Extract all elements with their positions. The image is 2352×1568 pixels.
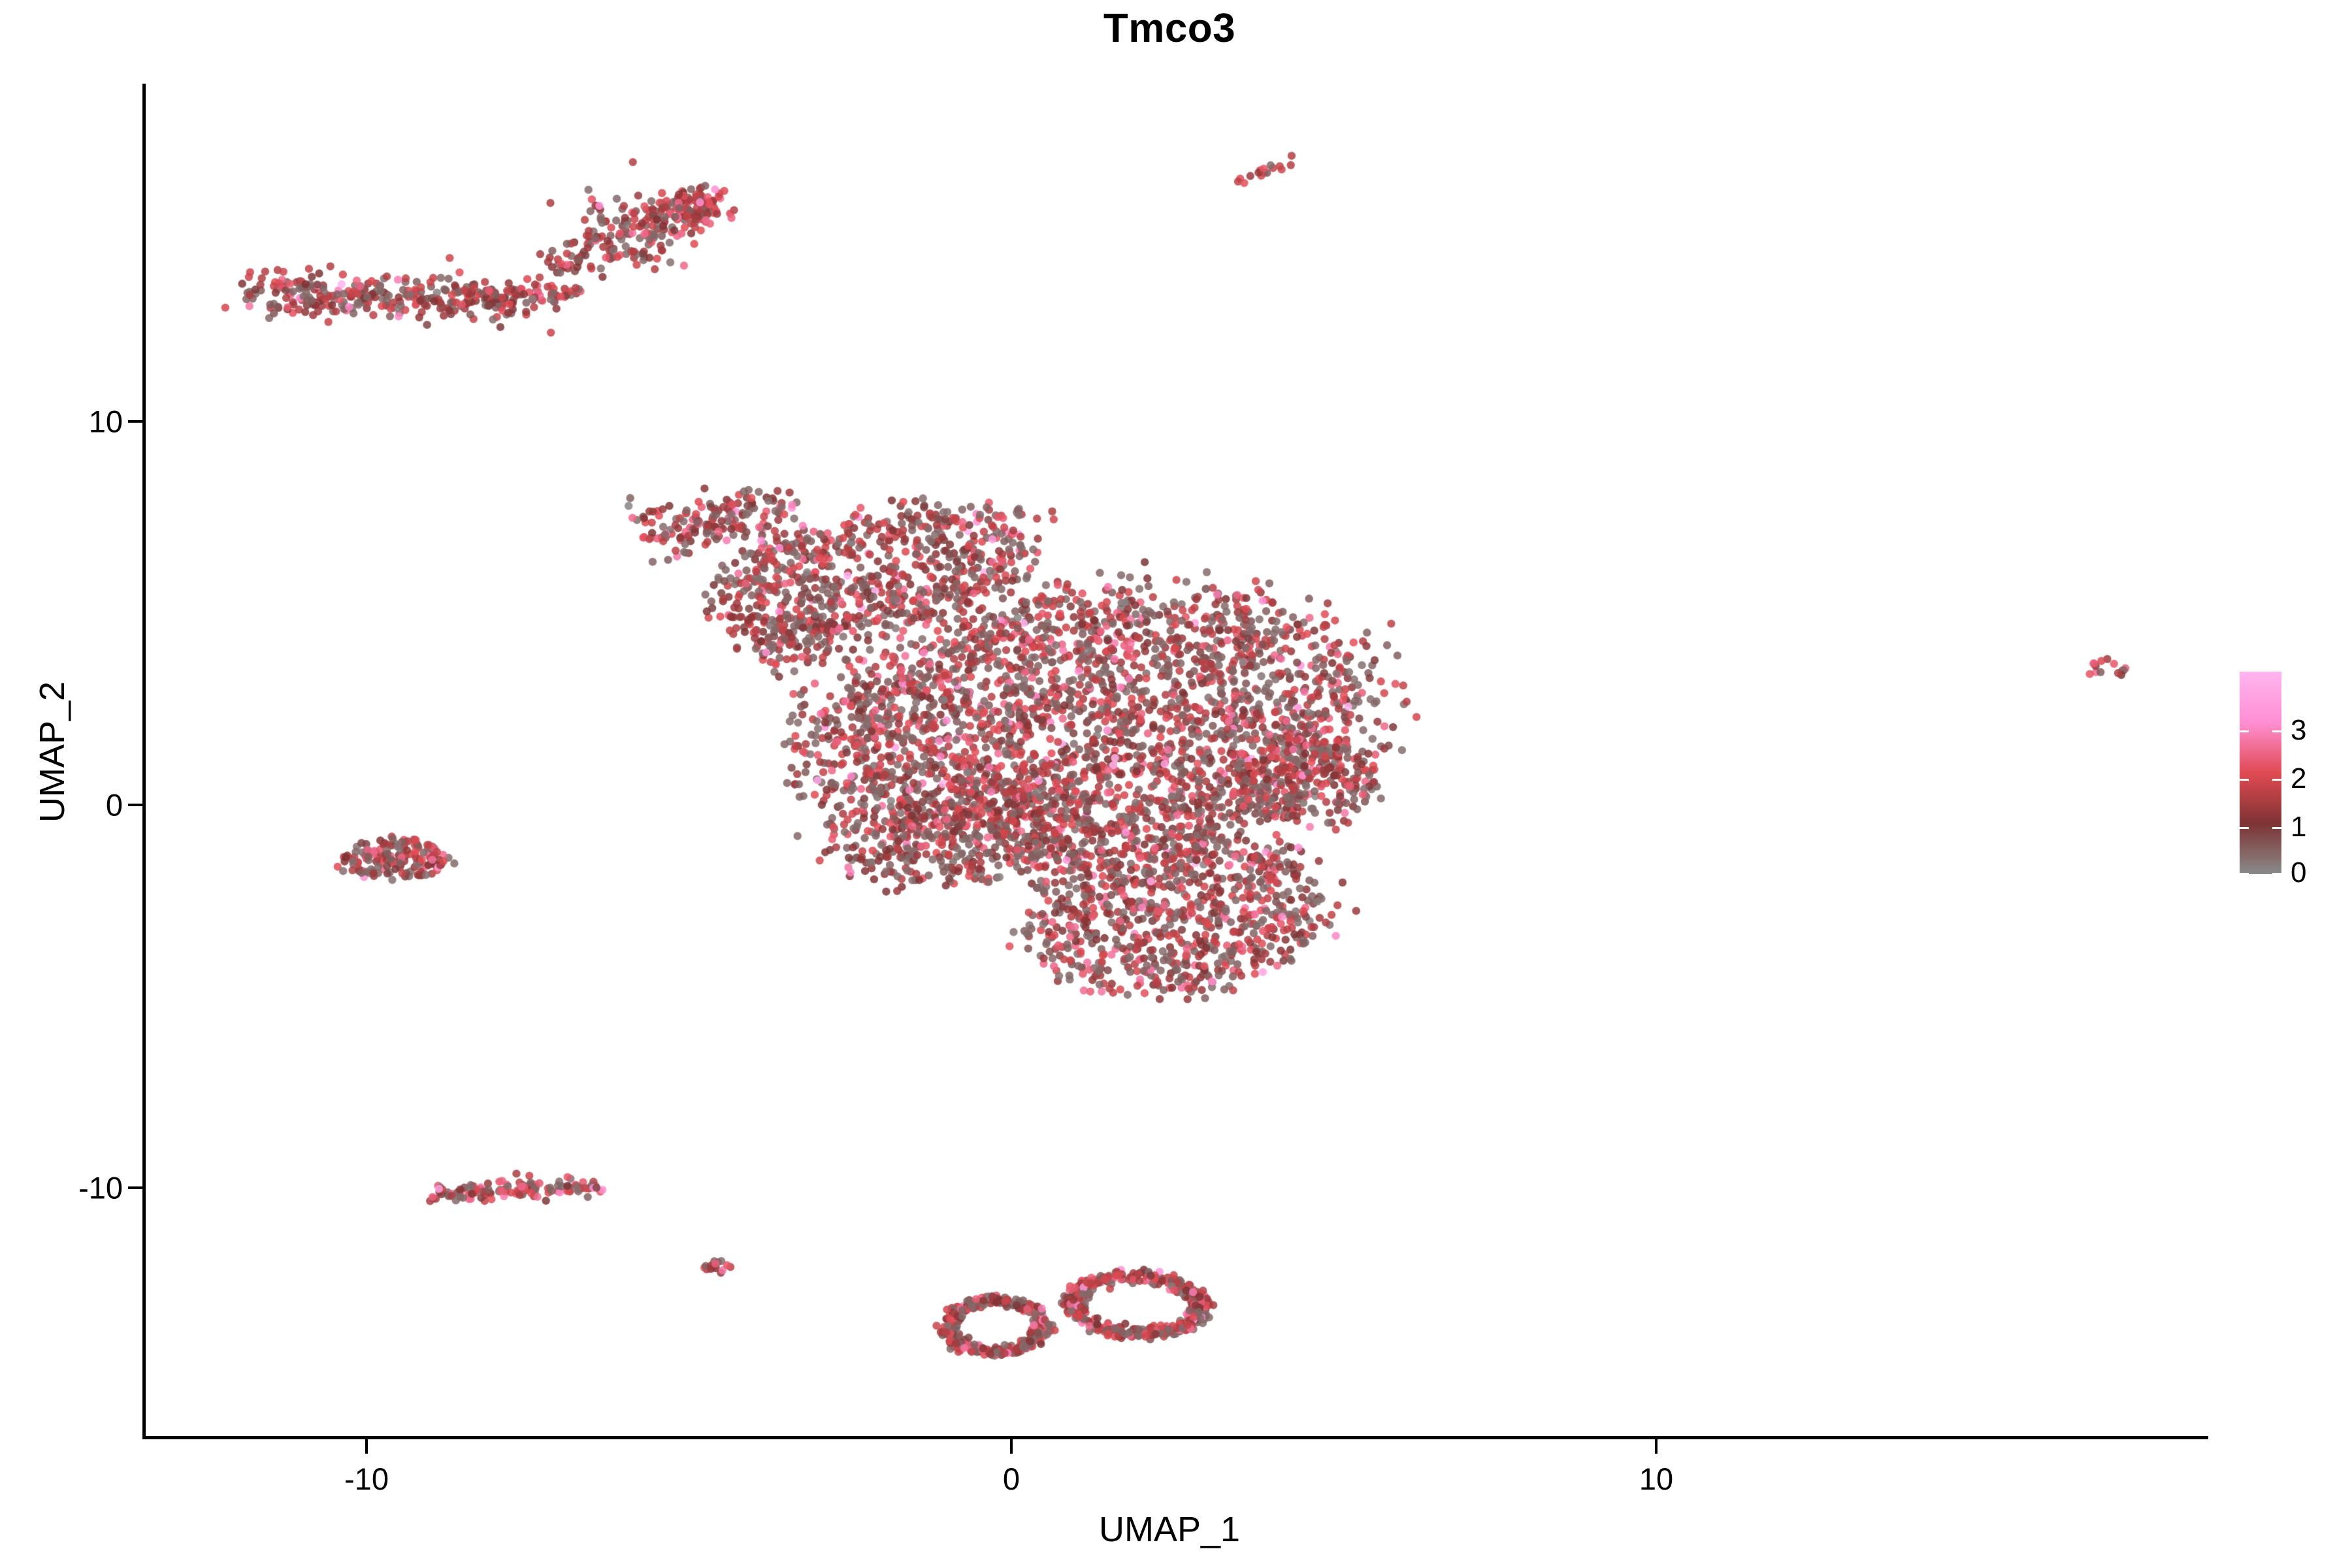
color-legend: 3 2 1 0 [2240,672,2281,874]
plot-title-text: Tmco3 [1103,5,1235,52]
legend-tick-mark [2272,827,2281,829]
x-tick-mark [1010,1439,1013,1454]
x-tick-mark [365,1439,368,1454]
x-axis-title-text: UMAP_1 [1099,1509,1240,1550]
x-tick-label: -10 [344,1461,389,1497]
y-tick-mark [128,804,142,806]
y-tick-label: 10 [89,404,123,440]
x-tick-mark [1655,1439,1658,1454]
page-title: Tmco3 [0,5,2352,52]
y-tick-mark [128,1186,142,1189]
scatter-points-canvas [144,85,2208,1437]
y-tick-mark [128,420,142,423]
x-tick-label: 10 [1639,1461,1673,1497]
legend-tick-label: 0 [2291,857,2306,889]
y-tick-label: 0 [106,787,123,823]
x-tick-label: 0 [1003,1461,1020,1497]
legend-tick-label: 1 [2291,811,2306,843]
legend-tick-mark [2240,779,2249,781]
legend-tick-label: 3 [2291,714,2306,747]
legend-tick-label: 2 [2291,762,2306,795]
plot-panel [144,85,2208,1437]
y-axis-line [142,84,146,1439]
legend-colorbar [2240,672,2281,874]
legend-tick-mark [2272,873,2281,875]
legend-tick-mark [2240,873,2249,875]
legend-tick-mark [2240,827,2249,829]
x-axis-line [142,1436,2208,1439]
legend-tick-mark [2272,779,2281,781]
y-tick-label: -10 [78,1170,123,1206]
feature-plot-figure: Tmco3 -10 0 10 10 0 -10 UMAP_1 UMAP_2 3 … [0,0,2352,1568]
x-axis-title: UMAP_1 [144,1509,2208,1550]
legend-tick-mark [2272,730,2281,732]
y-axis-title: UMAP_2 [32,360,73,1144]
y-axis-title-text: UMAP_2 [33,681,72,823]
legend-tick-mark [2240,730,2249,732]
